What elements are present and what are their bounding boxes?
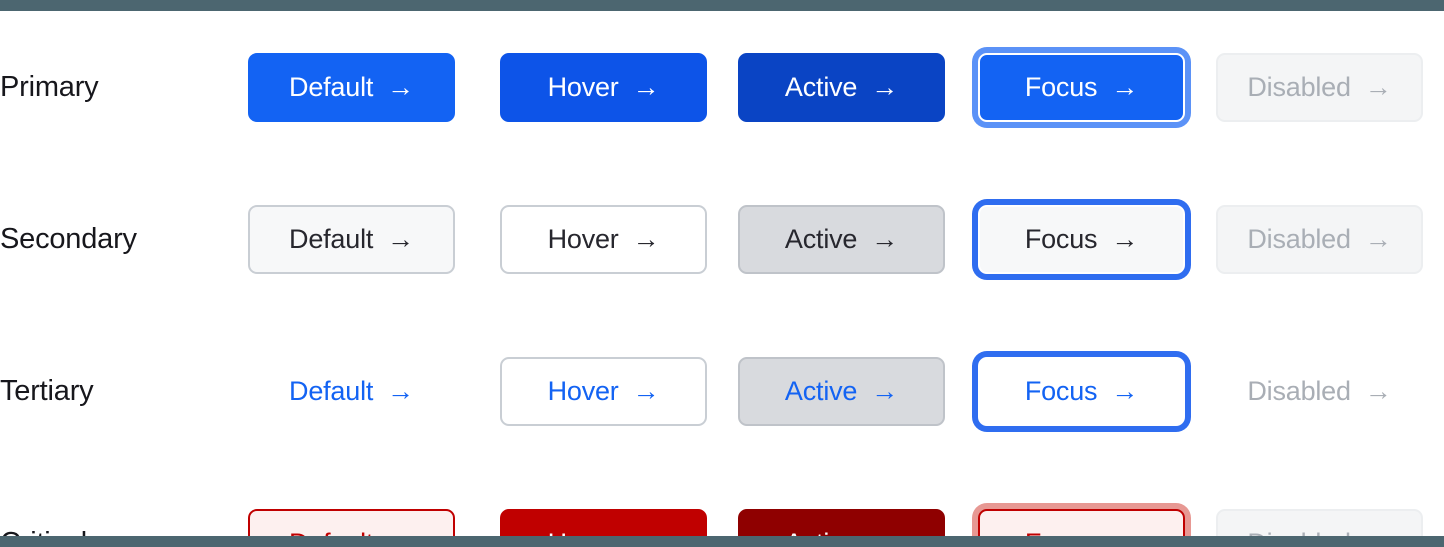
variant-row-primary: Primary Default → Hover → Active → [0,11,1444,163]
button-secondary-default[interactable]: Default → [248,205,455,274]
button-primary-active[interactable]: Active → [738,53,945,122]
button-tertiary-active[interactable]: Active → [738,357,945,426]
arrow-right-icon: → [1365,378,1392,405]
arrow-right-icon: → [633,378,660,405]
button-label: Active [785,378,857,405]
button-secondary-disabled: Disabled → [1216,205,1423,274]
cell-primary-default: Default → [248,53,455,122]
variant-label-primary: Primary [0,73,240,102]
variant-label-secondary: Secondary [0,225,240,254]
cell-secondary-focus: Focus → [978,205,1185,274]
bottom-chrome-bar [0,536,1444,547]
cell-secondary-hover: Hover → [500,205,707,274]
button-primary-default[interactable]: Default → [248,53,455,122]
variant-label-tertiary: Tertiary [0,377,240,406]
button-label: Disabled [1247,74,1350,101]
button-label: Hover [548,378,619,405]
variant-row-secondary: Secondary Default → Hover → Active → [0,163,1444,315]
button-label: Active [785,226,857,253]
button-primary-disabled: Disabled → [1216,53,1423,122]
top-chrome-bar [0,0,1444,11]
cell-secondary-active: Active → [738,205,945,274]
cell-tertiary-active: Active → [738,357,945,426]
cell-tertiary-disabled: Disabled → [1216,357,1423,426]
arrow-right-icon: → [871,226,898,253]
arrow-right-icon: → [1111,378,1138,405]
button-label: Active [785,74,857,101]
button-variant-matrix: Primary Default → Hover → Active → [0,11,1444,536]
cell-primary-focus: Focus → [978,53,1185,122]
cell-secondary-default: Default → [248,205,455,274]
cell-tertiary-focus: Focus → [978,357,1185,426]
button-secondary-active[interactable]: Active → [738,205,945,274]
cell-tertiary-default: Default → [248,357,455,426]
variant-row-tertiary: Tertiary Default → Hover → Active → [0,315,1444,467]
cell-secondary-disabled: Disabled → [1216,205,1423,274]
arrow-right-icon: → [1111,226,1138,253]
button-label: Focus [1025,74,1098,101]
arrow-right-icon: → [1111,74,1138,101]
button-label: Disabled [1247,378,1350,405]
button-secondary-hover[interactable]: Hover → [500,205,707,274]
cell-primary-disabled: Disabled → [1216,53,1423,122]
button-tertiary-hover[interactable]: Hover → [500,357,707,426]
arrow-right-icon: → [871,378,898,405]
variant-row-critical: Critical Default → Hover → Active → [0,467,1444,547]
button-tertiary-default[interactable]: Default → [248,357,455,426]
button-label: Default [289,226,373,253]
button-label: Disabled [1247,226,1350,253]
button-label: Default [289,74,373,101]
button-tertiary-disabled: Disabled → [1216,357,1423,426]
button-label: Hover [548,226,619,253]
button-secondary-focus[interactable]: Focus → [978,205,1185,274]
cell-primary-active: Active → [738,53,945,122]
arrow-right-icon: → [387,74,414,101]
button-primary-focus[interactable]: Focus → [978,53,1185,122]
arrow-right-icon: → [871,74,898,101]
cell-tertiary-hover: Hover → [500,357,707,426]
button-label: Hover [548,74,619,101]
button-label: Default [289,378,373,405]
button-label: Focus [1025,226,1098,253]
arrow-right-icon: → [1365,226,1392,253]
arrow-right-icon: → [633,74,660,101]
button-label: Focus [1025,378,1098,405]
button-primary-hover[interactable]: Hover → [500,53,707,122]
button-tertiary-focus[interactable]: Focus → [978,357,1185,426]
arrow-right-icon: → [1365,74,1392,101]
cell-primary-hover: Hover → [500,53,707,122]
arrow-right-icon: → [633,226,660,253]
arrow-right-icon: → [387,378,414,405]
button-state-matrix-page: Primary Default → Hover → Active → [0,0,1444,547]
arrow-right-icon: → [387,226,414,253]
